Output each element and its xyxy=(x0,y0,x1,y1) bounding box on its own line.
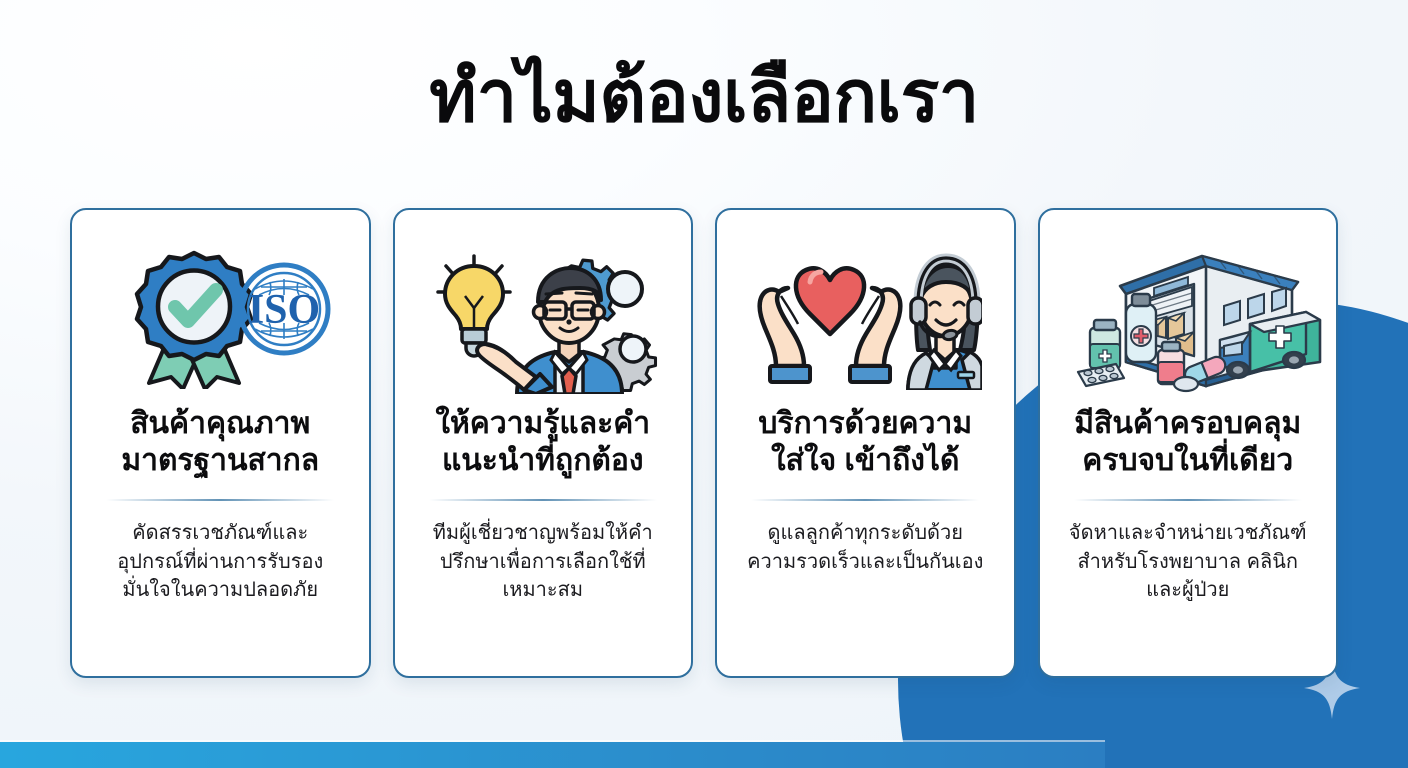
quality-badge-iso-icon: ISO xyxy=(86,234,355,404)
card-divider xyxy=(751,499,979,501)
slide-canvas: ทำไมต้องเลือกเรา xyxy=(0,0,1408,768)
feature-card-expertise[interactable]: ให้ความรู้และคำ แนะนำที่ถูกต้อง ทีมผู้เช… xyxy=(393,208,694,678)
feature-card-quality[interactable]: ISO สินค้าคุณภาพ มาตรฐานสากล คัดสรรเวชภั… xyxy=(70,208,371,678)
card-title: มีสินค้าครอบคลุม ครบจบในที่เดียว xyxy=(1074,406,1301,479)
feature-card-service[interactable]: บริการด้วยความ ใส่ใจ เข้าถึงได้ ดูแลลูกค… xyxy=(715,208,1016,678)
feature-card-list: ISO สินค้าคุณภาพ มาตรฐานสากล คัดสรรเวชภั… xyxy=(70,208,1338,678)
card-divider xyxy=(106,499,334,501)
card-description: ดูแลลูกค้าทุกระดับด้วย ความรวดเร็วและเป็… xyxy=(747,519,983,576)
expert-advisor-lightbulb-gears-icon xyxy=(409,234,678,404)
card-divider xyxy=(429,499,657,501)
card-title: บริการด้วยความ ใส่ใจ เข้าถึงได้ xyxy=(758,406,972,479)
card-divider xyxy=(1074,499,1302,501)
feature-card-coverage[interactable]: มีสินค้าครอบคลุม ครบจบในที่เดียว จัดหาแล… xyxy=(1038,208,1339,678)
card-description: ทีมผู้เชี่ยวชาญพร้อมให้คำ ปรึกษาเพื่อการ… xyxy=(433,519,653,604)
bottom-gradient-strip xyxy=(0,742,1105,768)
card-title: ให้ความรู้และคำ แนะนำที่ถูกต้อง xyxy=(435,406,650,479)
card-description: คัดสรรเวชภัณฑ์และ อุปกรณ์ที่ผ่านการรับรอ… xyxy=(117,519,323,604)
card-description: จัดหาและจำหน่ายเวชภัณฑ์ สำหรับโรงพยาบาล … xyxy=(1069,519,1307,604)
card-title: สินค้าคุณภาพ มาตรฐานสากล xyxy=(121,406,319,479)
caring-hands-heart-support-agent-icon xyxy=(731,234,1000,404)
page-title: ทำไมต้องเลือกเรา xyxy=(0,58,1408,137)
warehouse-pharmacy-delivery-icon xyxy=(1054,234,1323,404)
iso-label: ISO xyxy=(248,287,320,333)
